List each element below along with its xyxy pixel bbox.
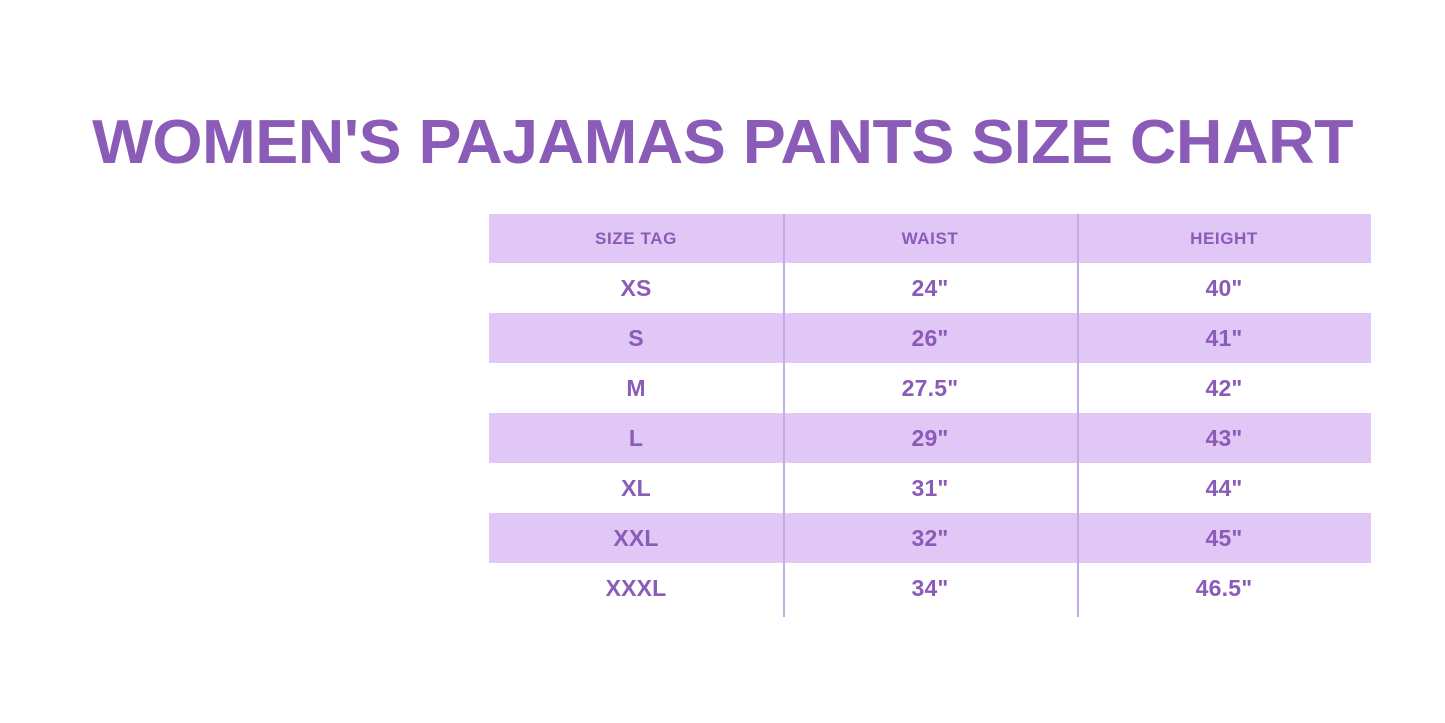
size-chart-table: SIZE TAG WAIST HEIGHT XS 24" 40" S 26" 4…	[489, 214, 1371, 613]
table-body: XS 24" 40" S 26" 41" M 27.5" 42" L 29" 4…	[489, 263, 1371, 613]
cell-height: 42"	[1077, 363, 1371, 413]
table-header-row: SIZE TAG WAIST HEIGHT	[489, 214, 1371, 263]
column-header-height: HEIGHT	[1077, 214, 1371, 263]
cell-height: 46.5"	[1077, 563, 1371, 613]
cell-waist: 32"	[783, 513, 1077, 563]
cell-waist: 26"	[783, 313, 1077, 363]
table-header: SIZE TAG WAIST HEIGHT	[489, 214, 1371, 263]
cell-waist: 29"	[783, 413, 1077, 463]
cell-size-tag: XXL	[489, 513, 783, 563]
cell-height: 41"	[1077, 313, 1371, 363]
cell-size-tag: L	[489, 413, 783, 463]
cell-size-tag: S	[489, 313, 783, 363]
cell-size-tag: M	[489, 363, 783, 413]
table-row: XS 24" 40"	[489, 263, 1371, 313]
cell-waist: 31"	[783, 463, 1077, 513]
cell-height: 44"	[1077, 463, 1371, 513]
table-row: S 26" 41"	[489, 313, 1371, 363]
table-row: M 27.5" 42"	[489, 363, 1371, 413]
table-row: XXXL 34" 46.5"	[489, 563, 1371, 613]
cell-waist: 24"	[783, 263, 1077, 313]
cell-size-tag: XL	[489, 463, 783, 513]
cell-height: 45"	[1077, 513, 1371, 563]
table-row: XXL 32" 45"	[489, 513, 1371, 563]
cell-height: 40"	[1077, 263, 1371, 313]
cell-size-tag: XS	[489, 263, 783, 313]
column-header-waist: WAIST	[783, 214, 1077, 263]
table-row: XL 31" 44"	[489, 463, 1371, 513]
page-title: WOMEN'S PAJAMAS PANTS SIZE CHART	[0, 106, 1445, 180]
size-chart-table-container: SIZE TAG WAIST HEIGHT XS 24" 40" S 26" 4…	[489, 214, 1371, 615]
cell-size-tag: XXXL	[489, 563, 783, 613]
table-row: L 29" 43"	[489, 413, 1371, 463]
cell-waist: 34"	[783, 563, 1077, 613]
column-header-size-tag: SIZE TAG	[489, 214, 783, 263]
cell-height: 43"	[1077, 413, 1371, 463]
cell-waist: 27.5"	[783, 363, 1077, 413]
